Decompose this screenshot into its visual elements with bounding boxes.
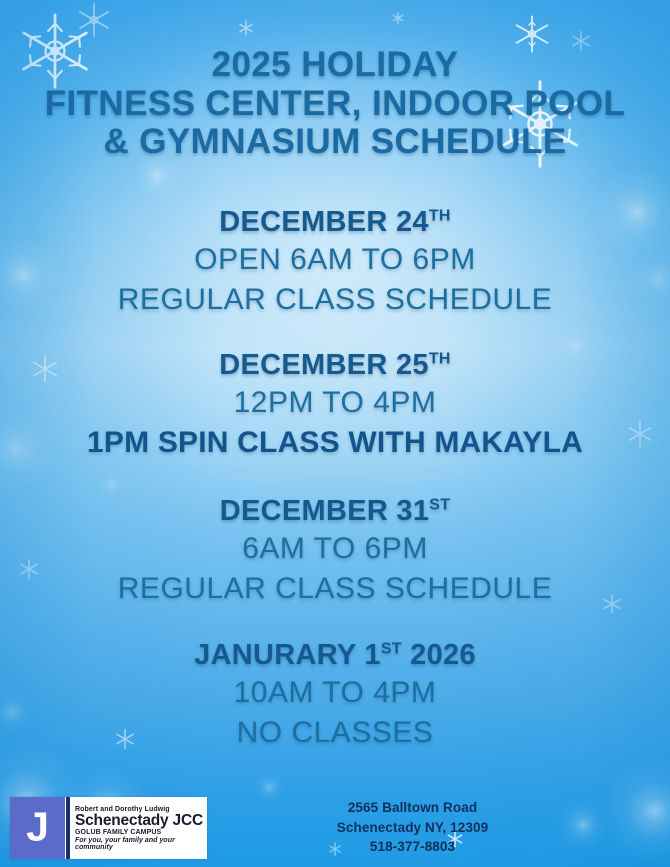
schedule-section-december-31: DECEMBER 31ST 6AM TO 6PM REGULAR CLASS S… (0, 494, 670, 609)
logo-divider (66, 797, 70, 859)
schedule-date-heading: DECEMBER 24TH (0, 205, 670, 240)
schedule-date-text: JANURARY 1 (194, 639, 381, 671)
title-line-1: 2025 HOLIDAY (0, 46, 670, 85)
logo-campus-name: GOLUB FAMILY CAMPUS (75, 829, 203, 836)
title-line-3: & GYMNASIUM SCHEDULE (0, 123, 670, 162)
logo-tagline: For you, your family and your community (75, 837, 203, 851)
poster-title: 2025 HOLIDAY FITNESS CENTER, INDOOR POOL… (0, 46, 670, 162)
schedule-date-ordinal: ST (429, 496, 450, 513)
holiday-schedule-poster: 2025 HOLIDAY FITNESS CENTER, INDOOR POOL… (0, 0, 670, 867)
schedule-section-january-1: JANURARY 1ST 2026 10AM TO 4PM NO CLASSES (0, 638, 670, 753)
schedule-note: NO CLASSES (0, 713, 670, 753)
schedule-section-december-24: DECEMBER 24TH OPEN 6AM TO 6PM REGULAR CL… (0, 205, 670, 320)
jcc-logo-letter: J (10, 807, 65, 848)
schedule-date-text: DECEMBER 24 (219, 206, 429, 238)
schedule-date-text: DECEMBER 25 (219, 349, 429, 381)
jcc-logo: J Robert and Dorothy Ludwig Schenectady … (10, 797, 207, 859)
address-street: 2565 Balltown Road (215, 798, 610, 818)
poster-content: 2025 HOLIDAY FITNESS CENTER, INDOOR POOL… (0, 0, 670, 867)
logo-org-name: Schenectady JCC (75, 813, 203, 830)
schedule-date-ordinal: TH (429, 207, 451, 224)
schedule-note: REGULAR CLASS SCHEDULE (0, 280, 670, 320)
schedule-date-heading: JANURARY 1ST 2026 (0, 638, 670, 673)
schedule-date-text: DECEMBER 31 (220, 495, 430, 527)
schedule-date-heading: DECEMBER 31ST (0, 494, 670, 529)
address-city-state-zip: Schenectady NY, 12309 (215, 818, 610, 838)
schedule-hours: 6AM TO 6PM (0, 529, 670, 569)
jcc-logo-mark: J (10, 797, 65, 859)
title-line-2: FITNESS CENTER, INDOOR POOL (0, 85, 670, 124)
contact-address: 2565 Balltown Road Schenectady NY, 12309… (215, 798, 610, 857)
schedule-hours: 12PM TO 4PM (0, 383, 670, 423)
schedule-date-ordinal: ST (381, 640, 402, 657)
schedule-hours: OPEN 6AM TO 6PM (0, 240, 670, 280)
address-phone: 518-377-8803 (215, 837, 610, 857)
schedule-note: REGULAR CLASS SCHEDULE (0, 569, 670, 609)
schedule-date-ordinal: TH (429, 350, 451, 367)
schedule-date-heading: DECEMBER 25TH (0, 348, 670, 383)
schedule-date-year: 2026 (402, 639, 476, 671)
schedule-section-december-25: DECEMBER 25TH 12PM TO 4PM 1PM SPIN CLASS… (0, 348, 670, 463)
jcc-logo-text: Robert and Dorothy Ludwig Schenectady JC… (74, 797, 207, 859)
schedule-note: 1PM SPIN CLASS WITH MAKAYLA (0, 423, 670, 463)
schedule-hours: 10AM TO 4PM (0, 673, 670, 713)
